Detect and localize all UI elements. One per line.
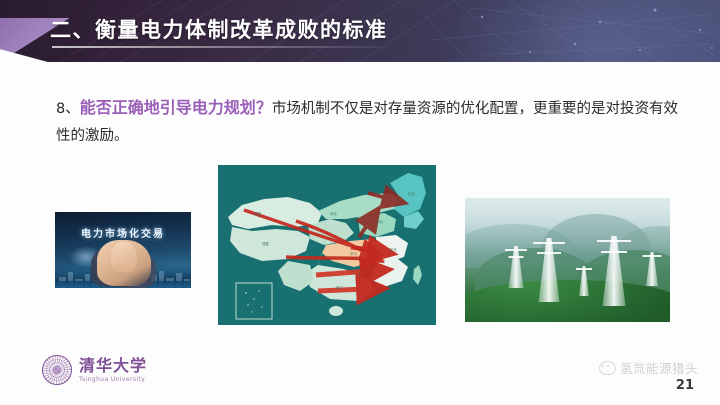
item-number: 8、: [56, 101, 80, 117]
title-underline: [52, 46, 380, 48]
slide-root: 二、衡量电力体制改革成败的标准 8、能否正确地引导电力规划？市场机制不仅是对存量…: [0, 0, 720, 405]
university-name-en: Tsinghua University: [79, 377, 147, 383]
transmission-tower: [507, 246, 525, 288]
svg-text:南方: 南方: [336, 285, 343, 290]
svg-text:西北: 西北: [330, 211, 337, 216]
transmission-tower: [578, 266, 590, 296]
image-transmission-towers: [465, 198, 670, 322]
svg-text:华北: 华北: [376, 219, 383, 224]
watermark: 氢氚能源猎头: [599, 358, 698, 377]
svg-text:新疆: 新疆: [254, 211, 261, 216]
university-name-cn: 清华大学: [79, 358, 147, 374]
tsinghua-seal-icon: [42, 355, 72, 385]
svg-text:华中: 华中: [350, 251, 357, 256]
svg-text:西藏: 西藏: [262, 241, 269, 246]
handshake-graphic-top: [111, 242, 137, 272]
china-map-svg: 新疆 西藏 西北 华北 东北 华中 华东 南方: [218, 165, 436, 325]
transmission-tower: [645, 252, 659, 286]
image-left-caption: 电力市场化交易: [55, 225, 191, 240]
logo-text: 清华大学 Tsinghua University: [79, 358, 147, 383]
svg-text:东北: 东北: [408, 191, 415, 196]
image-market-trading: 电力市场化交易: [55, 212, 191, 288]
body-paragraph: 8、能否正确地引导电力规划？市场机制不仅是对存量资源的优化配置，更重要的是对投资…: [56, 93, 678, 150]
transmission-tower: [537, 238, 561, 302]
question-mark: ？: [256, 98, 272, 117]
watermark-text: 氢氚能源猎头: [620, 358, 698, 377]
foreground-forest: [465, 280, 670, 322]
tsinghua-logo: 清华大学 Tsinghua University: [42, 355, 147, 385]
header-glow: [440, 0, 720, 62]
highlighted-question: 能否正确地引导电力规划: [80, 98, 256, 117]
svg-text:华东: 华东: [390, 247, 397, 252]
wechat-icon: [599, 361, 616, 375]
page-title: 二、衡量电力体制改革成败的标准: [50, 14, 388, 44]
transmission-tower: [601, 236, 627, 306]
page-number: 21: [676, 378, 694, 393]
image-china-power-map: 新疆 西藏 西北 华北 东北 华中 华东 南方: [218, 165, 436, 325]
slide-header: 二、衡量电力体制改革成败的标准: [0, 0, 720, 62]
